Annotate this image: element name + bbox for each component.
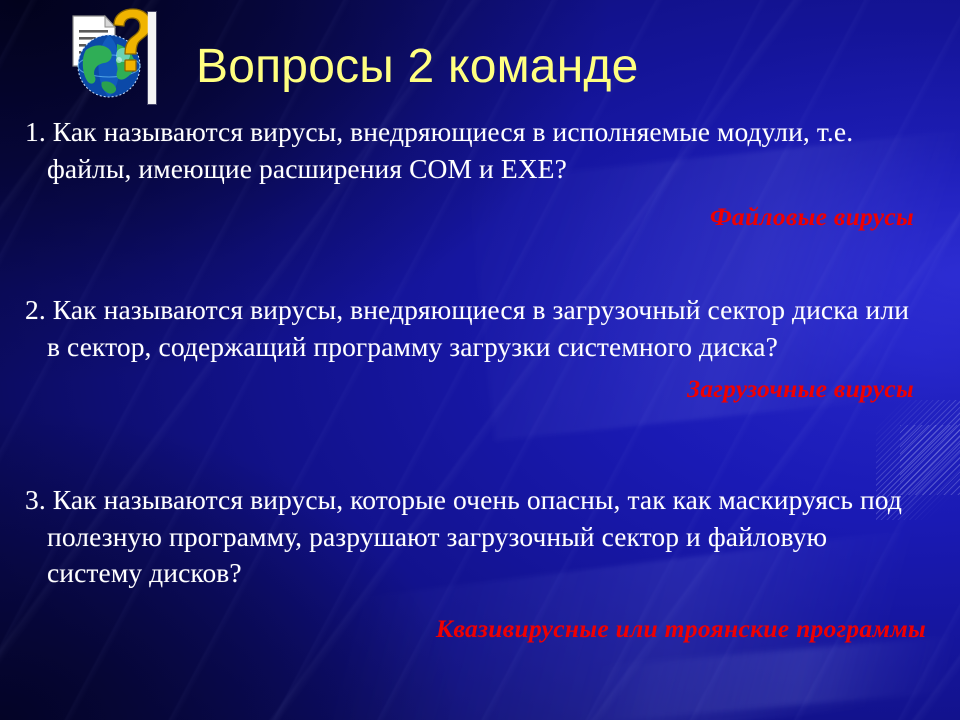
answer-text-2: Загрузочные вирусы (0, 372, 960, 406)
globe-document-question-icon (62, 8, 158, 104)
qa-item-3: 3. Как называются вирусы, которые очень … (0, 482, 960, 646)
answer-text-1: Файловые вирусы (0, 200, 960, 234)
question-text-3: 3. Как называются вирусы, которые очень … (0, 482, 960, 592)
slide-header: Вопросы 2 команде (0, 0, 960, 112)
qa-item-1: 1. Как называются вирусы, внедряющиеся в… (0, 114, 960, 234)
answer-text-3: Квазивирусные или троянские программы (0, 612, 960, 646)
logo-vertical-bar (148, 12, 156, 104)
qa-item-2: 2. Как называются вирусы, внедряющиеся в… (0, 292, 960, 406)
slide-body: 1. Как называются вирусы, внедряющиеся в… (0, 110, 960, 720)
presentation-slide: Вопросы 2 команде 1. Как называются виру… (0, 0, 960, 720)
page-title: Вопросы 2 команде (196, 40, 916, 94)
question-text-1: 1. Как называются вирусы, внедряющиеся в… (0, 114, 960, 187)
question-text-2: 2. Как называются вирусы, внедряющиеся в… (0, 292, 960, 365)
logo-svg (62, 8, 158, 104)
